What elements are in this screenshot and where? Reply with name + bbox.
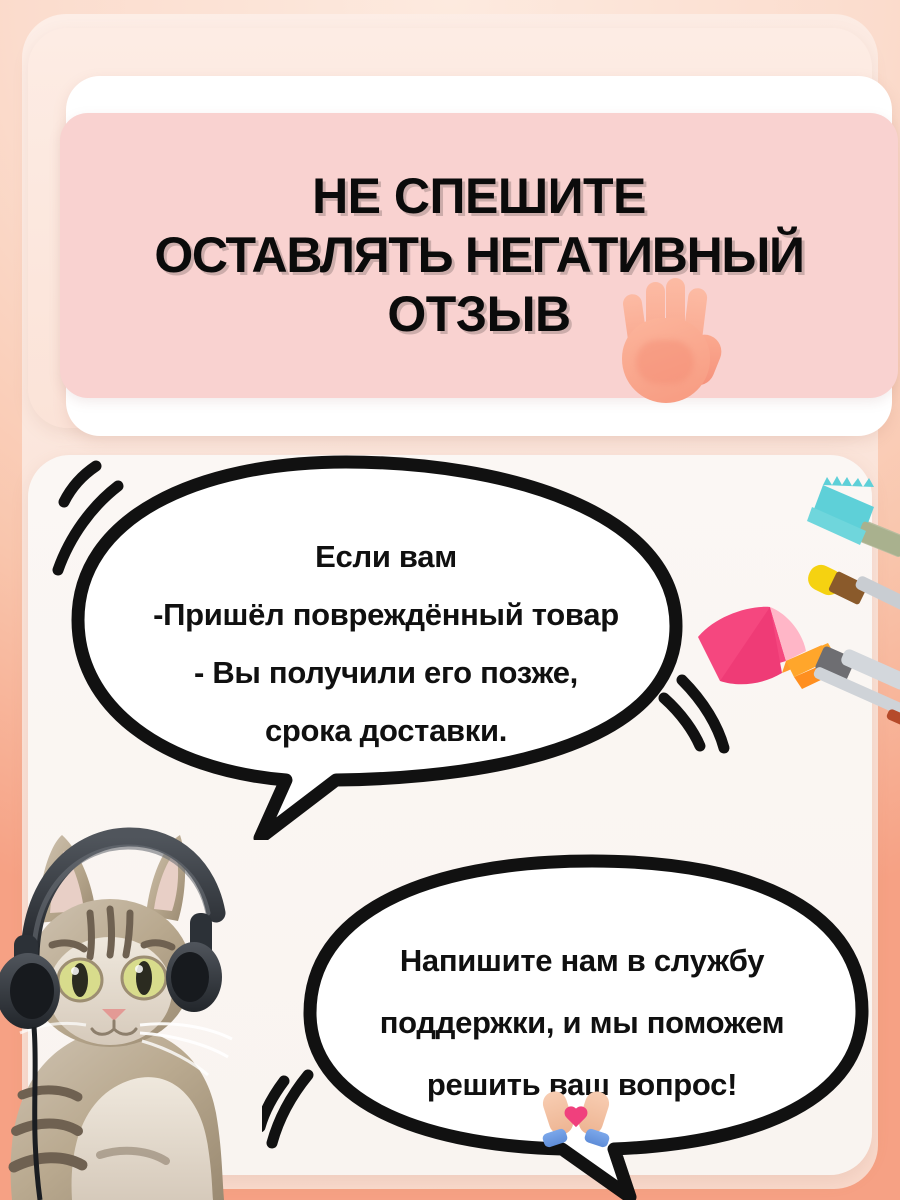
page-title: НЕ СПЕШИТЕ ОСТАВЛЯТЬ НЕГАТИВНЫЙ ОТЗЫВ bbox=[60, 113, 898, 398]
title-line-3: ОТЗЫВ bbox=[387, 286, 570, 343]
heart-hands-icon bbox=[540, 1087, 612, 1149]
raised-hand-icon bbox=[612, 268, 724, 408]
teal-paint-brush bbox=[807, 476, 900, 558]
heart-shape bbox=[563, 1105, 589, 1131]
speech-bubble-problems: Если вам -Пришёл повреждённый товар - Вы… bbox=[36, 440, 736, 840]
title-line-1: НЕ СПЕШИТЕ bbox=[312, 168, 646, 225]
cat-with-headphones-image bbox=[0, 795, 294, 1200]
yellow-paint-brush bbox=[804, 561, 900, 614]
hand-palm-shade bbox=[636, 340, 694, 384]
header-card-outer: НЕ СПЕШИТЕ ОСТАВЛЯТЬ НЕГАТИВНЫЙ ОТЗЫВ bbox=[28, 28, 872, 428]
bubble-1-shape bbox=[36, 440, 736, 840]
poster-root: НЕ СПЕШИТЕ ОСТАВЛЯТЬ НЕГАТИВНЫЙ ОТЗЫВ bbox=[0, 0, 900, 1200]
header-card-pink: НЕ СПЕШИТЕ ОСТАВЛЯТЬ НЕГАТИВНЫЙ ОТЗЫВ bbox=[60, 113, 898, 398]
